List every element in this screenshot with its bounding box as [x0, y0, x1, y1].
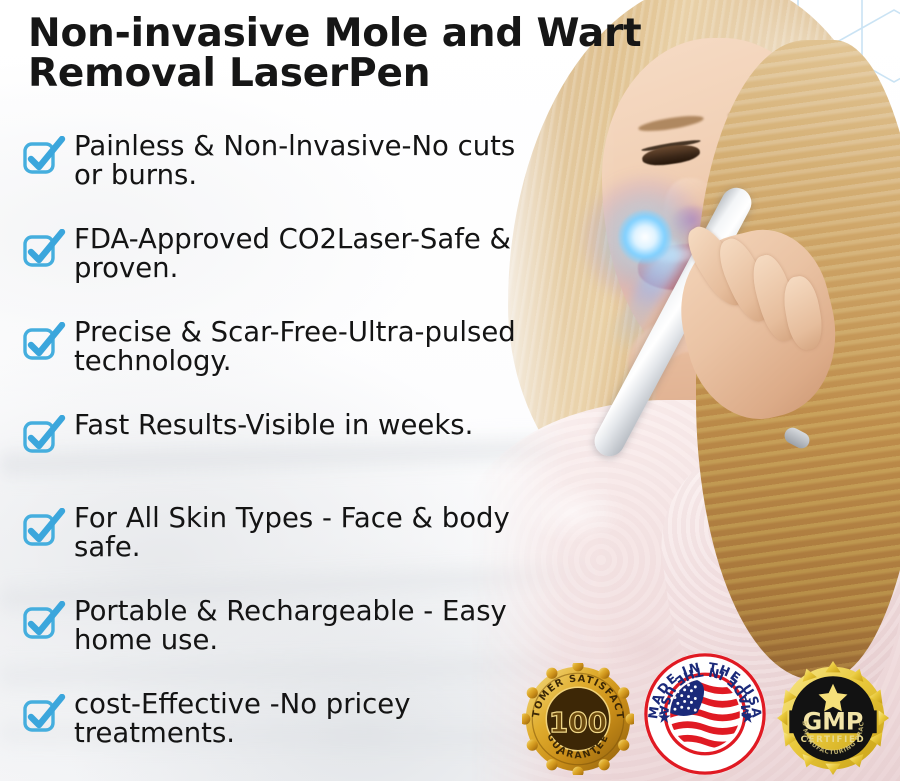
- list-item: Fast Results-Visible in weeks.: [22, 411, 542, 473]
- badge-center-text: 100: [549, 706, 607, 739]
- list-item: Precise & Scar-Free-Ultra-pulsed technol…: [22, 318, 542, 380]
- list-item: For All Skin Types - Face & body safe.: [22, 504, 542, 566]
- blue-check-icon: [22, 415, 66, 455]
- page-title: Non-invasive Mole and Wart Removal Laser…: [28, 14, 648, 94]
- trust-badge-row: 100 CUSTOMER SATISFACTION GUARANTEE: [520, 653, 892, 775]
- gmp-certified-badge: GMP CERTIFIED GOOD MANUFACTURING PRACTIC…: [776, 661, 890, 775]
- list-item: Portable & Rechargeable - Easy home use.: [22, 597, 542, 659]
- list-item: Painless & Non-lnvasive-No cuts or burns…: [22, 132, 542, 194]
- list-item: cost-Effective -No pricey treatments.: [22, 690, 542, 752]
- feature-list: Painless & Non-lnvasive-No cuts or burns…: [22, 132, 542, 781]
- blue-check-icon: [22, 322, 66, 362]
- blue-check-icon: [22, 229, 66, 269]
- made-in-usa-badge: MADE IN THE USA MADE IN THE USA: [642, 651, 768, 777]
- feature-text: Portable & Rechargeable - Easy home use.: [74, 597, 542, 656]
- feature-text: Precise & Scar-Free-Ultra-pulsed technol…: [74, 318, 542, 377]
- list-item: FDA-Approved CO2Laser-Safe & proven.: [22, 225, 542, 287]
- feature-text: FDA-Approved CO2Laser-Safe & proven.: [74, 225, 542, 284]
- customer-satisfaction-badge: 100 CUSTOMER SATISFACTION GUARANTEE: [522, 663, 634, 775]
- blue-check-icon: [22, 508, 66, 548]
- advertisement-banner: Non-invasive Mole and Wart Removal Laser…: [0, 0, 900, 781]
- feature-text: cost-Effective -No pricey treatments.: [74, 690, 542, 749]
- badge-main-text: GMP: [803, 707, 864, 735]
- blue-check-icon: [22, 694, 66, 734]
- feature-text: For All Skin Types - Face & body safe.: [74, 504, 542, 563]
- blue-check-icon: [22, 601, 66, 641]
- feature-text: Painless & Non-lnvasive-No cuts or burns…: [74, 132, 542, 191]
- blue-check-icon: [22, 136, 66, 176]
- feature-text: Fast Results-Visible in weeks.: [74, 411, 542, 440]
